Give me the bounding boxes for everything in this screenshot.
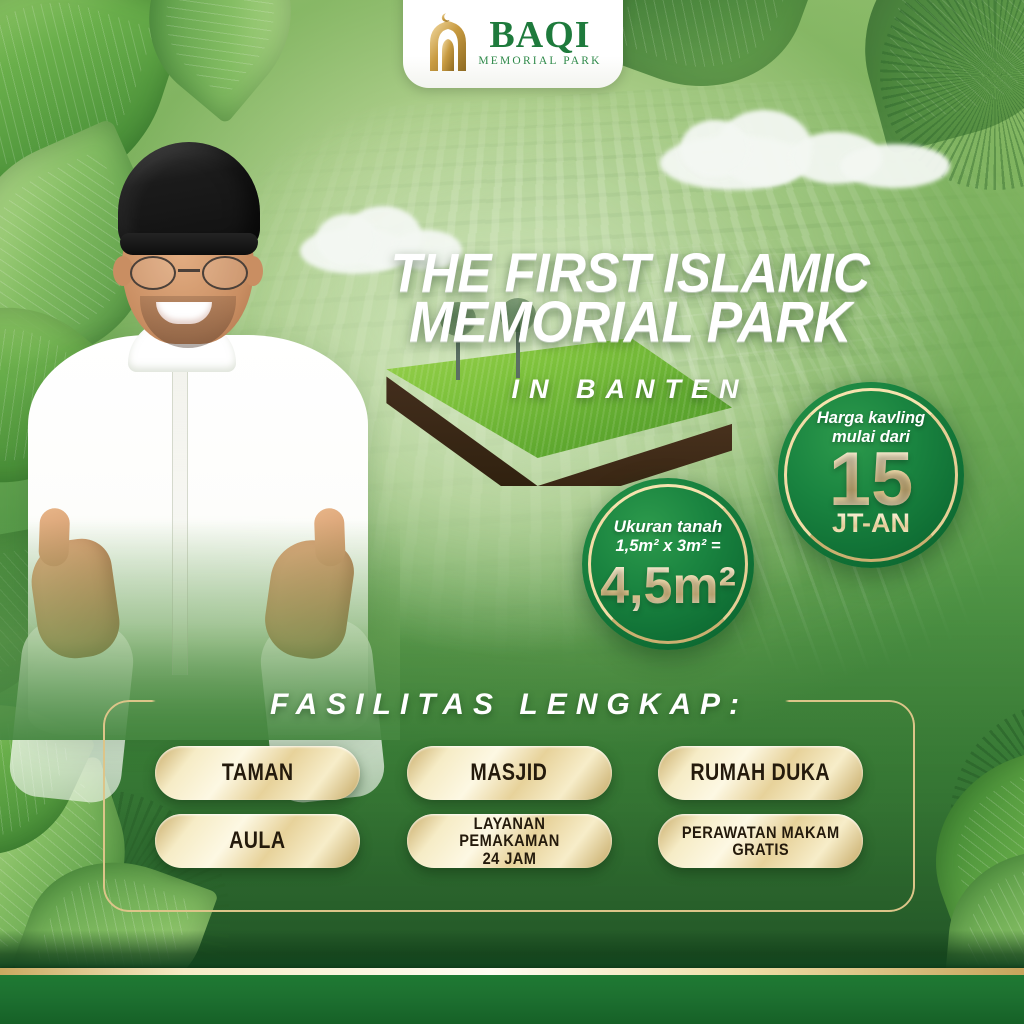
size-badge-label: Ukuran tanah: [614, 516, 723, 537]
facilities-rows: TAMAN MASJID RUMAH DUKA AULA LAYANAN PEM…: [103, 746, 915, 882]
size-badge[interactable]: Ukuran tanah 1,5m² x 3m² = 4,5m²: [582, 478, 754, 650]
logo-badge[interactable]: BAQI MEMORIAL PARK: [403, 0, 623, 88]
facility-label: TAMAN: [222, 761, 294, 785]
facilities-panel: FASILITAS LENGKAP: TAMAN MASJID RUMAH DU…: [103, 700, 915, 912]
facility-label: PERAWATAN MAKAMGRATIS: [682, 824, 840, 859]
price-badge-number: 15: [829, 445, 914, 515]
price-badge-unit: JT-AN: [832, 510, 910, 537]
facility-pill-rumah-duka[interactable]: RUMAH DUKA: [658, 746, 863, 800]
gold-divider-line: [0, 968, 1024, 975]
facility-pill-masjid[interactable]: MASJID: [407, 746, 612, 800]
facility-pill-taman[interactable]: TAMAN: [155, 746, 360, 800]
facilities-title: FASILITAS LENGKAP:: [103, 688, 915, 722]
headline-line-3: IN BANTEN: [370, 374, 890, 405]
logo-subtitle: MEMORIAL PARK: [478, 56, 601, 68]
size-badge-value: 4,5m²: [600, 560, 736, 612]
price-badge-label-line2: mulai dari: [832, 428, 910, 447]
logo-wordmark: BAQI MEMORIAL PARK: [478, 16, 601, 68]
size-badge-formula: 1,5m² x 3m² =: [615, 537, 720, 556]
facility-pill-aula[interactable]: AULA: [155, 814, 360, 868]
logo-name: BAQI: [489, 16, 590, 54]
facilities-row-1: TAMAN MASJID RUMAH DUKA: [103, 746, 915, 800]
facility-label: MASJID: [471, 761, 548, 785]
bottom-dark-gradient: [0, 930, 1024, 970]
price-badge-label-line1: Harga kavling: [817, 409, 925, 428]
facility-label: RUMAH DUKA: [691, 761, 831, 785]
facility-pill-layanan-pemakaman[interactable]: LAYANAN PEMAKAMAN24 JAM: [407, 814, 612, 868]
mosque-archway-icon: [424, 11, 472, 73]
facility-label: AULA: [229, 829, 285, 853]
headline-block: THE FIRST ISLAMIC MEMORIAL PARK: [370, 248, 890, 349]
person-peci-cap: [118, 142, 260, 252]
person-glasses-icon: [126, 256, 252, 290]
poster-canvas: THE FIRST ISLAMIC MEMORIAL PARK IN BANTE…: [0, 0, 1024, 1024]
headline-line-2: MEMORIAL PARK: [370, 295, 890, 351]
bottom-green-bar: [0, 975, 1024, 1024]
facility-label: LAYANAN PEMAKAMAN24 JAM: [421, 815, 597, 867]
facilities-row-2: AULA LAYANAN PEMAKAMAN24 JAM PERAWATAN M…: [103, 814, 915, 868]
grass-slab-graphic: [372, 338, 772, 478]
facility-pill-perawatan-makam[interactable]: PERAWATAN MAKAMGRATIS: [658, 814, 863, 868]
price-badge[interactable]: Harga kavling mulai dari 15 JT-AN: [778, 382, 964, 568]
